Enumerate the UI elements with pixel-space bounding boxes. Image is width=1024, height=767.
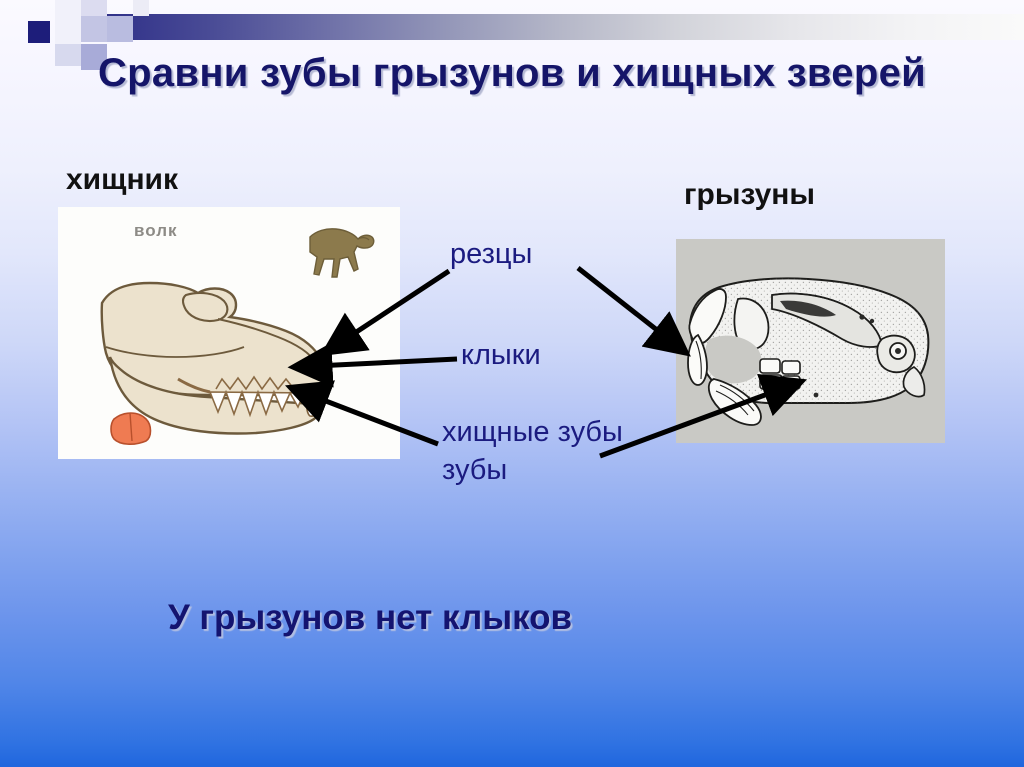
label-canines: клыки: [461, 337, 541, 375]
rodent-condyle: [877, 336, 915, 373]
rodent-foramen-a: [859, 314, 864, 319]
rodent-skull-illustration: [676, 239, 945, 443]
orange-tooth-specimen: [111, 413, 151, 444]
label-carnassial-line1: хищные зубы: [442, 416, 623, 448]
page-title: Сравни зубы грызунов и хищных зверей: [92, 48, 932, 99]
wolf-silhouette-icon: [310, 229, 374, 277]
wolf-skull-illustration: [58, 207, 400, 459]
wolf-skull-panel: волк: [58, 207, 400, 459]
rodent-skull-panel: [676, 239, 945, 443]
rodent-foramen-c: [814, 393, 819, 398]
connector-incisors-to-rodent: [578, 268, 685, 352]
square-pale-lavender-tall: [55, 0, 81, 44]
label-carnassial-line2: зубы: [442, 452, 507, 490]
caption-rodent: грызуны: [684, 178, 815, 212]
header-gradient-bar: [58, 14, 1024, 40]
square-mid-periwinkle-right: [107, 16, 133, 42]
square-pale-right: [133, 0, 149, 16]
bottom-statement: У грызунов нет клыков: [60, 598, 680, 638]
rodent-foramen-b: [870, 319, 874, 323]
caption-predator: хищник: [66, 163, 178, 197]
label-incisors: резцы: [450, 236, 532, 274]
square-light-periwinkle: [81, 0, 107, 16]
label-carnassial: хищные зубы: [442, 414, 623, 452]
wolf-image-label: волк: [134, 221, 178, 241]
square-dark-navy: [28, 21, 50, 43]
slide-canvas: Сравни зубы грызунов и хищных зверей хищ…: [0, 0, 1024, 767]
square-mid-periwinkle-top: [81, 16, 107, 42]
square-light-blue-lower: [55, 44, 81, 66]
